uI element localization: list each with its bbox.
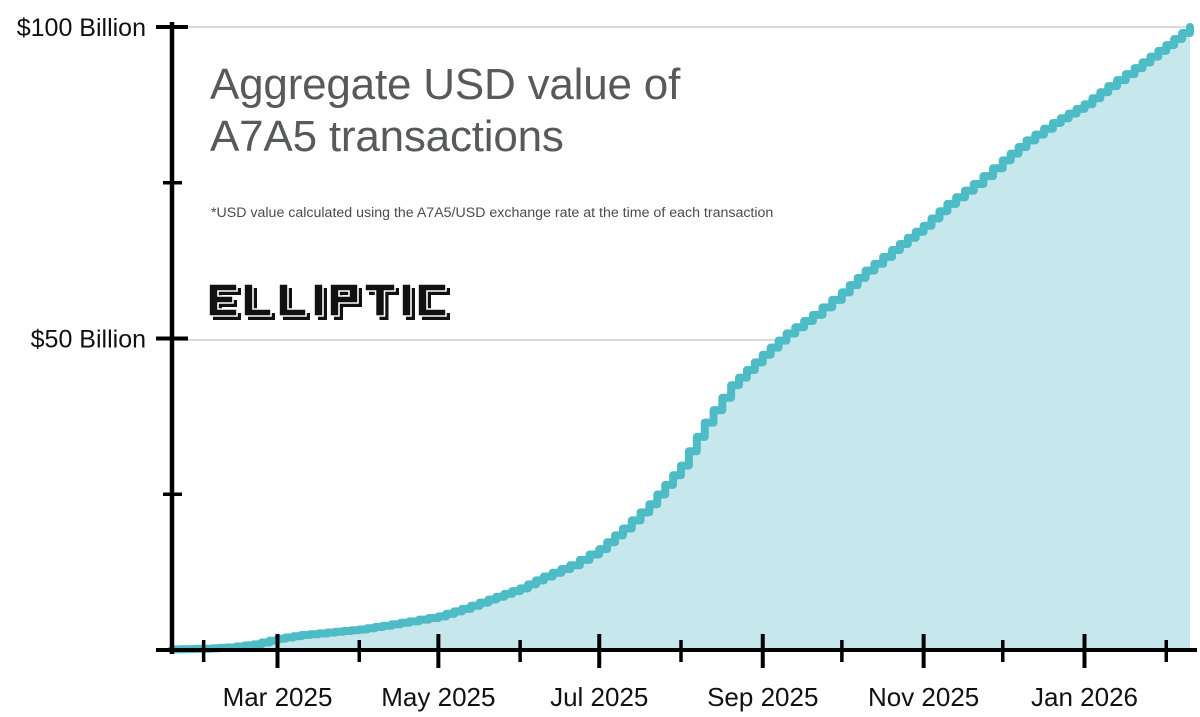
chart-container: $50 Billion$100 Billion Mar 2025May 2025… <box>0 0 1200 717</box>
x-tick-label: Sep 2025 <box>707 682 818 712</box>
logo-letter-l-1 <box>244 283 276 323</box>
x-tick-label: May 2025 <box>381 682 495 712</box>
logo-letter-p-4 <box>330 283 362 323</box>
y-axis-tick-labels: $50 Billion$100 Billion <box>17 14 146 354</box>
x-tick-label: Jan 2026 <box>1031 682 1138 712</box>
x-tick-label: Nov 2025 <box>868 682 979 712</box>
logo-letter-i-6 <box>402 283 415 323</box>
y-tick-label: $100 Billion <box>17 14 146 42</box>
logo-letter-e-0 <box>209 283 241 323</box>
chart-title: Aggregate USD value of A7A5 transactions <box>210 59 850 163</box>
logo-letter-t-5 <box>365 283 399 323</box>
logo-letter-i-3 <box>314 283 327 323</box>
x-axis-tick-labels: Mar 2025May 2025Jul 2025Sep 2025Nov 2025… <box>223 682 1138 712</box>
y-tick-label: $50 Billion <box>31 326 146 354</box>
logo-letter-c-7 <box>418 283 450 323</box>
x-tick-label: Mar 2025 <box>223 682 333 712</box>
logo-letter-l-2 <box>279 283 311 323</box>
x-tick-label: Jul 2025 <box>550 682 648 712</box>
elliptic-logo <box>209 283 450 323</box>
chart-footnote: *USD value calculated using the A7A5/USD… <box>211 203 781 223</box>
